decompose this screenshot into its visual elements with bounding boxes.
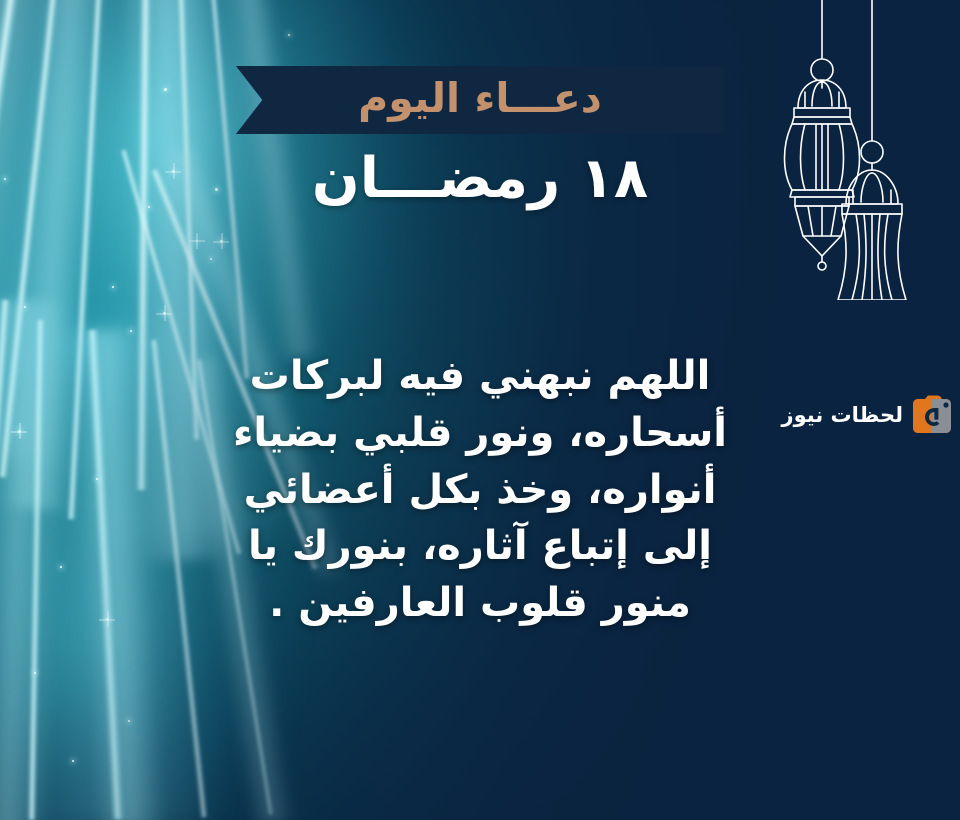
dua-of-the-day-banner: دعـــاء اليوم <box>236 66 724 134</box>
dua-line: منور قلوب العارفين . <box>120 575 840 632</box>
dua-line: اللهم نبهني فيه لبركات <box>120 348 840 405</box>
camera-logo-icon <box>910 395 954 435</box>
dua-text-block: اللهم نبهني فيه لبركات أسحاره، ونور قلبي… <box>120 348 840 632</box>
watermark-brand: لحظات نيوز <box>782 403 904 427</box>
site-watermark: لحظات نيوز <box>782 392 955 438</box>
banner-title: دعـــاء اليوم <box>236 66 724 134</box>
hijri-date: ١٨ رمضـــان <box>0 146 960 211</box>
dua-line: أنواره، وخذ بكل أعضائي <box>120 462 840 519</box>
ramadan-dua-poster: دعـــاء اليوم ١٨ رمضـــان اللهم نبهني في… <box>0 0 960 820</box>
dua-line: إلى إتباع آثاره، بنورك يا <box>120 518 840 575</box>
dua-line: أسحاره، ونور قلبي بضياء <box>120 405 840 462</box>
